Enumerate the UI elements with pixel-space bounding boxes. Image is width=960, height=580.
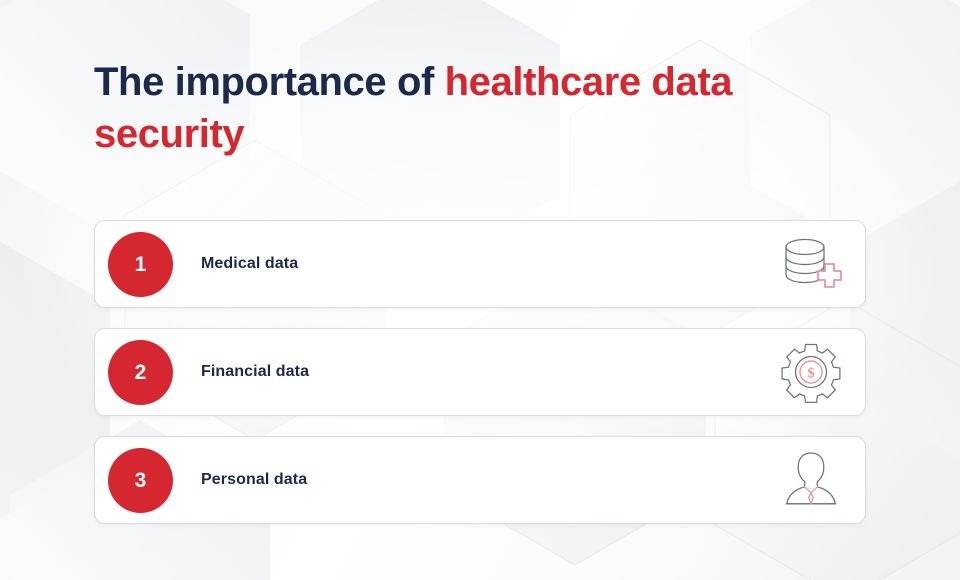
list-item[interactable]: 2 Financial data $ — [94, 328, 866, 416]
list-item-number-badge: 2 — [108, 340, 173, 405]
page-title-primary: The importance of — [94, 60, 445, 104]
database-medical-icon — [775, 232, 847, 296]
list-item-label: Financial data — [201, 363, 775, 381]
data-category-list: 1 Medical data 2 Financial data — [94, 220, 866, 524]
list-item[interactable]: 3 Personal data — [94, 436, 866, 524]
person-avatar-icon — [775, 448, 847, 512]
gear-dollar-icon: $ — [775, 340, 847, 404]
list-item[interactable]: 1 Medical data — [94, 220, 866, 308]
list-item-number-badge: 1 — [108, 232, 173, 297]
svg-text:$: $ — [807, 365, 814, 381]
slide-canvas: The importance of healthcare data securi… — [0, 0, 960, 580]
list-item-label: Medical data — [201, 255, 775, 273]
list-item-number-badge: 3 — [108, 448, 173, 513]
list-item-label: Personal data — [201, 471, 775, 489]
page-title: The importance of healthcare data securi… — [94, 56, 884, 160]
